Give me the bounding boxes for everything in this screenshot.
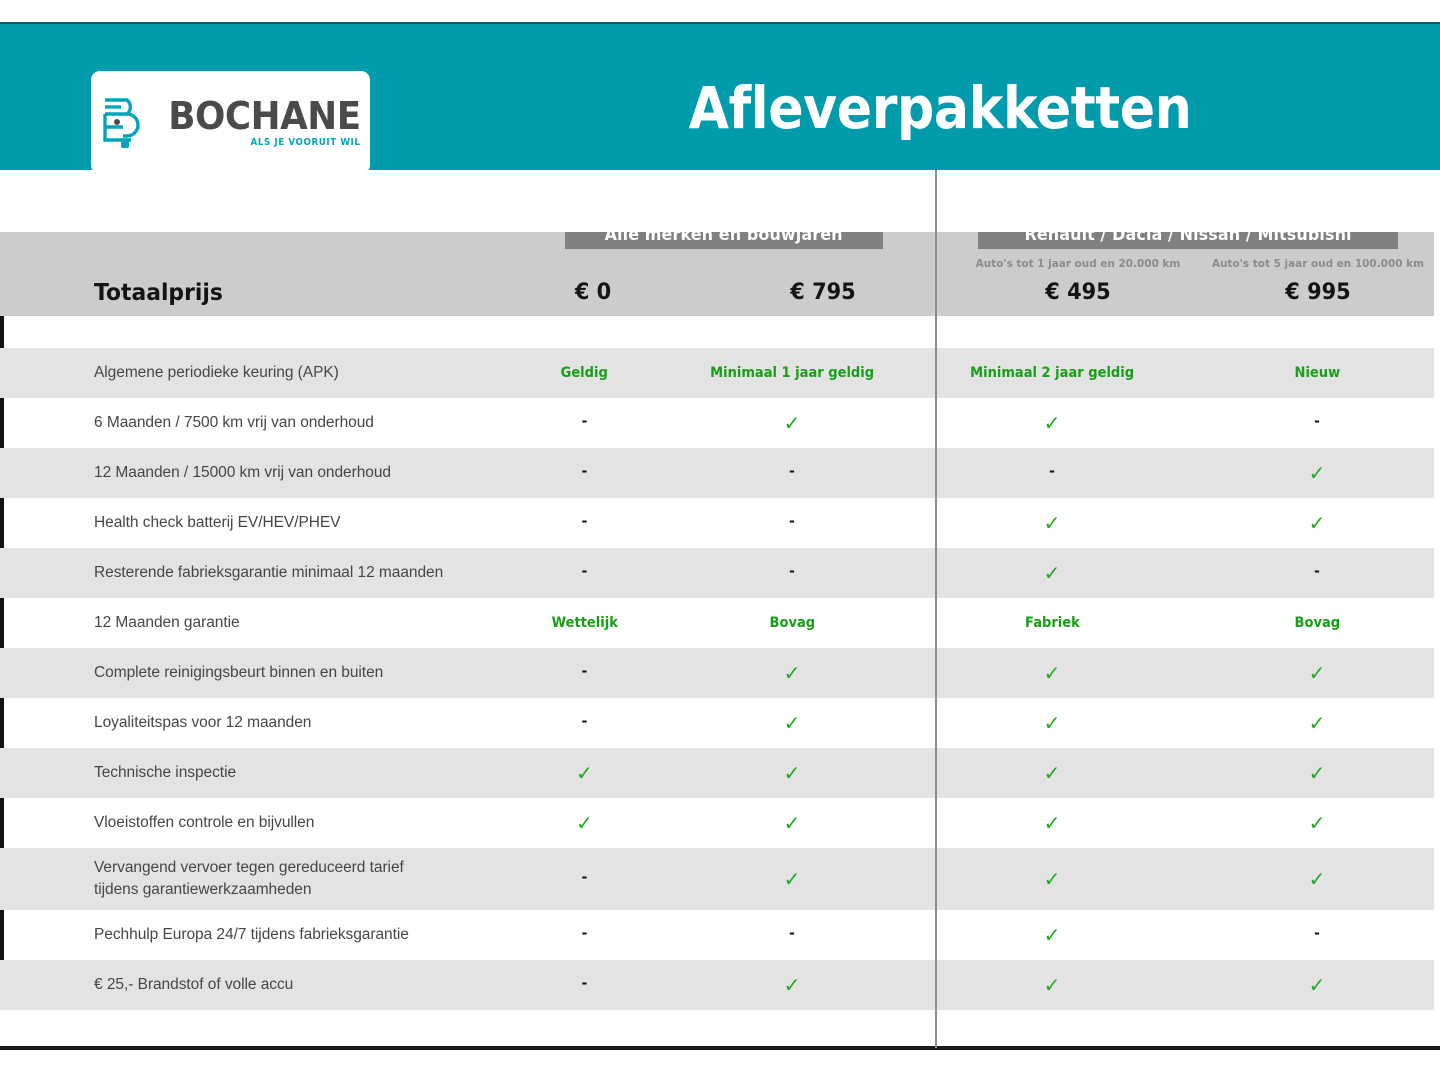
check-icon: ✓ [1309, 664, 1326, 684]
not-included-dash-icon: - [789, 512, 795, 529]
table-row: 12 Maanden garantieWettelijkBovagFabriek… [0, 598, 1440, 648]
check-icon: ✓ [576, 764, 593, 784]
age-cap-plus: Auto's tot 5 jaar oud en 100.000 km [1209, 257, 1428, 270]
row-edge-marker [0, 698, 4, 748]
price-plus: € 995 [1209, 280, 1428, 305]
table-tail-row [0, 170, 1440, 232]
row-edge-marker [0, 598, 4, 648]
row-label: Technische inspectie [0, 762, 520, 784]
table-cell: ✓ [907, 563, 1197, 584]
table-cell: Bovag [1197, 614, 1437, 632]
table-row: Health check batterij EV/HEV/PHEV--✓✓ [0, 498, 1440, 548]
table-cell: ✓ [677, 413, 907, 434]
not-included-dash-icon: - [582, 412, 588, 429]
row-label: Resterende fabrieksgarantie minimaal 12 … [0, 562, 520, 584]
table-cell: ✓ [907, 763, 1197, 784]
page-root: BOCHANE ALS JE VOORUIT WIL Afleverpakket… [0, 0, 1440, 1080]
not-included-dash-icon: - [1049, 462, 1055, 479]
table-cell: - [1197, 926, 1437, 945]
check-icon: ✓ [1044, 664, 1061, 684]
table-cell: ✓ [907, 513, 1197, 534]
table-cell: - [907, 464, 1197, 483]
check-icon: ✓ [1044, 714, 1061, 734]
logo-tagline: ALS JE VOORUIT WIL [250, 138, 360, 148]
table-cell: ✓ [1197, 813, 1437, 834]
table-cell: ✓ [677, 663, 907, 684]
row-edge-marker [0, 398, 4, 448]
table-row: Loyaliteitspas voor 12 maanden-✓✓✓ [0, 698, 1440, 748]
row-label: Vervangend vervoer tegen gereduceerd tar… [0, 857, 520, 902]
check-icon: ✓ [1309, 814, 1326, 834]
table-row: € 25,- Brandstof of volle accu-✓✓✓ [0, 960, 1440, 1010]
row-label: € 25,- Brandstof of volle accu [0, 974, 520, 996]
check-icon: ✓ [784, 414, 801, 434]
not-included-dash-icon: - [582, 868, 588, 885]
table-cell: ✓ [1197, 713, 1437, 734]
table-cell: ✓ [492, 813, 677, 834]
not-included-dash-icon: - [582, 562, 588, 579]
row-label: Complete reinigingsbeurt binnen en buite… [0, 662, 520, 684]
row-edge-marker [0, 798, 4, 848]
table-cell: - [492, 514, 677, 533]
table-row: 12 Maanden / 15000 km vrij van onderhoud… [0, 448, 1440, 498]
row-label: Algemene periodieke keuring (APK) [0, 362, 520, 384]
check-icon: ✓ [1044, 564, 1061, 584]
check-icon: ✓ [1044, 926, 1061, 946]
table-cell: - [492, 464, 677, 483]
cell-text: Minimaal 1 jaar geldig [710, 365, 874, 381]
table-cell: ✓ [492, 763, 677, 784]
cell-text: Wettelijk [551, 615, 617, 631]
check-icon: ✓ [784, 814, 801, 834]
check-icon: ✓ [1309, 976, 1326, 996]
row-edge-marker [0, 910, 4, 960]
table-cell: - [1197, 564, 1437, 583]
check-icon: ✓ [784, 870, 801, 890]
check-icon: ✓ [784, 976, 801, 996]
table-row: 6 Maanden / 7500 km vrij van onderhoud-✓… [0, 398, 1440, 448]
not-included-dash-icon: - [582, 974, 588, 991]
table-row: Complete reinigingsbeurt binnen en buite… [0, 648, 1440, 698]
table-cell: - [492, 414, 677, 433]
feature-rows: Algemene periodieke keuring (APK)GeldigM… [0, 316, 1440, 1010]
table-cell: - [677, 464, 907, 483]
packages-comparison-table: Standaard pakket Basis pakket Select pak… [0, 170, 1440, 1050]
not-included-dash-icon: - [582, 662, 588, 679]
table-cell: ✓ [1197, 513, 1437, 534]
table-row: Resterende fabrieksgarantie minimaal 12 … [0, 548, 1440, 598]
table-row: Vervangend vervoer tegen gereduceerd tar… [0, 848, 1440, 910]
check-icon: ✓ [1309, 464, 1326, 484]
logo-text: BOCHANE ALS JE VOORUIT WIL [156, 97, 361, 148]
not-included-dash-icon: - [789, 462, 795, 479]
row-label: 6 Maanden / 7500 km vrij van onderhoud [0, 412, 520, 434]
not-included-dash-icon: - [582, 712, 588, 729]
check-icon: ✓ [1044, 414, 1061, 434]
table-cell: - [1197, 414, 1437, 433]
cell-text: Fabriek [1025, 615, 1080, 631]
cell-text: Bovag [769, 615, 815, 631]
table-cell: Minimaal 2 jaar geldig [907, 364, 1197, 382]
not-included-dash-icon: - [582, 512, 588, 529]
check-icon: ✓ [1044, 976, 1061, 996]
table-cell: ✓ [907, 663, 1197, 684]
check-icon: ✓ [1309, 764, 1326, 784]
table-cell: - [492, 926, 677, 945]
table-row: Technische inspectie✓✓✓✓ [0, 748, 1440, 798]
cell-text: Nieuw [1294, 365, 1340, 381]
table-cell: - [492, 664, 677, 683]
not-included-dash-icon: - [582, 924, 588, 941]
price-select: € 495 [969, 280, 1188, 305]
table-cell: ✓ [1197, 975, 1437, 996]
table-cell: ✓ [677, 763, 907, 784]
check-icon: ✓ [784, 714, 801, 734]
price-standaard: € 0 [484, 280, 703, 305]
not-included-dash-icon: - [789, 562, 795, 579]
table-cell: ✓ [677, 975, 907, 996]
table-cell: ✓ [677, 713, 907, 734]
cell-text: Bovag [1294, 615, 1340, 631]
table-cell: - [677, 926, 907, 945]
table-cell: ✓ [1197, 463, 1437, 484]
table-cell: ✓ [1197, 869, 1437, 890]
table-cell: Bovag [677, 614, 907, 632]
table-cell: ✓ [907, 925, 1197, 946]
not-included-dash-icon: - [1314, 412, 1320, 429]
table-cell: ✓ [677, 869, 907, 890]
page-title: Afleverpakketten [490, 74, 1390, 142]
table-cell: ✓ [1197, 763, 1437, 784]
check-icon: ✓ [1309, 714, 1326, 734]
not-included-dash-icon: - [789, 924, 795, 941]
table-cell: Nieuw [1197, 364, 1437, 382]
table-row: Vloeistoffen controle en bijvullen✓✓✓✓ [0, 798, 1440, 848]
table-cell: ✓ [907, 813, 1197, 834]
table-cell: ✓ [677, 813, 907, 834]
table-row: Pechhulp Europa 24/7 tijdens fabrieksgar… [0, 910, 1440, 960]
table-cell: Minimaal 1 jaar geldig [677, 364, 907, 382]
totaalprijs-label: Totaalprijs [94, 280, 223, 306]
not-included-dash-icon: - [582, 462, 588, 479]
age-cap-select: Auto's tot 1 jaar oud en 20.000 km [969, 257, 1188, 270]
check-icon: ✓ [784, 764, 801, 784]
price-basis: € 795 [714, 280, 933, 305]
check-icon: ✓ [576, 814, 593, 834]
row-label: Pechhulp Europa 24/7 tijdens fabrieksgar… [0, 924, 520, 946]
table-cell: - [677, 514, 907, 533]
check-icon: ✓ [784, 664, 801, 684]
table-cell: ✓ [1197, 663, 1437, 684]
table-cell: - [677, 564, 907, 583]
table-cell: Geldig [492, 364, 677, 382]
row-label: 12 Maanden / 15000 km vrij van onderhoud [0, 462, 520, 484]
row-label: 12 Maanden garantie [0, 612, 520, 634]
check-icon: ✓ [1044, 514, 1061, 534]
table-row: Algemene periodieke keuring (APK)GeldigM… [0, 348, 1440, 398]
check-icon: ✓ [1309, 514, 1326, 534]
logo-wordmark: BOCHANE [168, 97, 360, 135]
not-included-dash-icon: - [1314, 562, 1320, 579]
row-label: Health check batterij EV/HEV/PHEV [0, 512, 520, 534]
table-cell: - [492, 564, 677, 583]
table-cell: ✓ [907, 713, 1197, 734]
table-cell: ✓ [907, 413, 1197, 434]
check-icon: ✓ [1044, 870, 1061, 890]
bochane-b-mark-icon [101, 94, 147, 152]
not-included-dash-icon: - [1314, 924, 1320, 941]
check-icon: ✓ [1044, 814, 1061, 834]
table-cell: ✓ [907, 869, 1197, 890]
row-label: Loyaliteitspas voor 12 maanden [0, 712, 520, 734]
row-label: Vloeistoffen controle en bijvullen [0, 812, 520, 834]
cell-text: Minimaal 2 jaar geldig [970, 365, 1134, 381]
row-label-line: Vervangend vervoer tegen gereduceerd tar… [94, 857, 520, 879]
check-icon: ✓ [1044, 764, 1061, 784]
group-divider [935, 170, 937, 1048]
table-cell: - [492, 870, 677, 889]
row-label-line: tijdens garantiewerkzaamheden [94, 879, 520, 901]
row-edge-marker [0, 498, 4, 548]
table-cell: - [492, 714, 677, 733]
check-icon: ✓ [1309, 870, 1326, 890]
table-cell: ✓ [907, 975, 1197, 996]
table-cell: Fabriek [907, 614, 1197, 632]
table-cell: - [492, 976, 677, 995]
header-gap-row [0, 316, 1440, 348]
page-header: BOCHANE ALS JE VOORUIT WIL Afleverpakket… [0, 22, 1440, 170]
brand-logo: BOCHANE ALS JE VOORUIT WIL [91, 71, 370, 174]
table-cell: Wettelijk [492, 614, 677, 632]
cell-text: Geldig [561, 365, 608, 381]
